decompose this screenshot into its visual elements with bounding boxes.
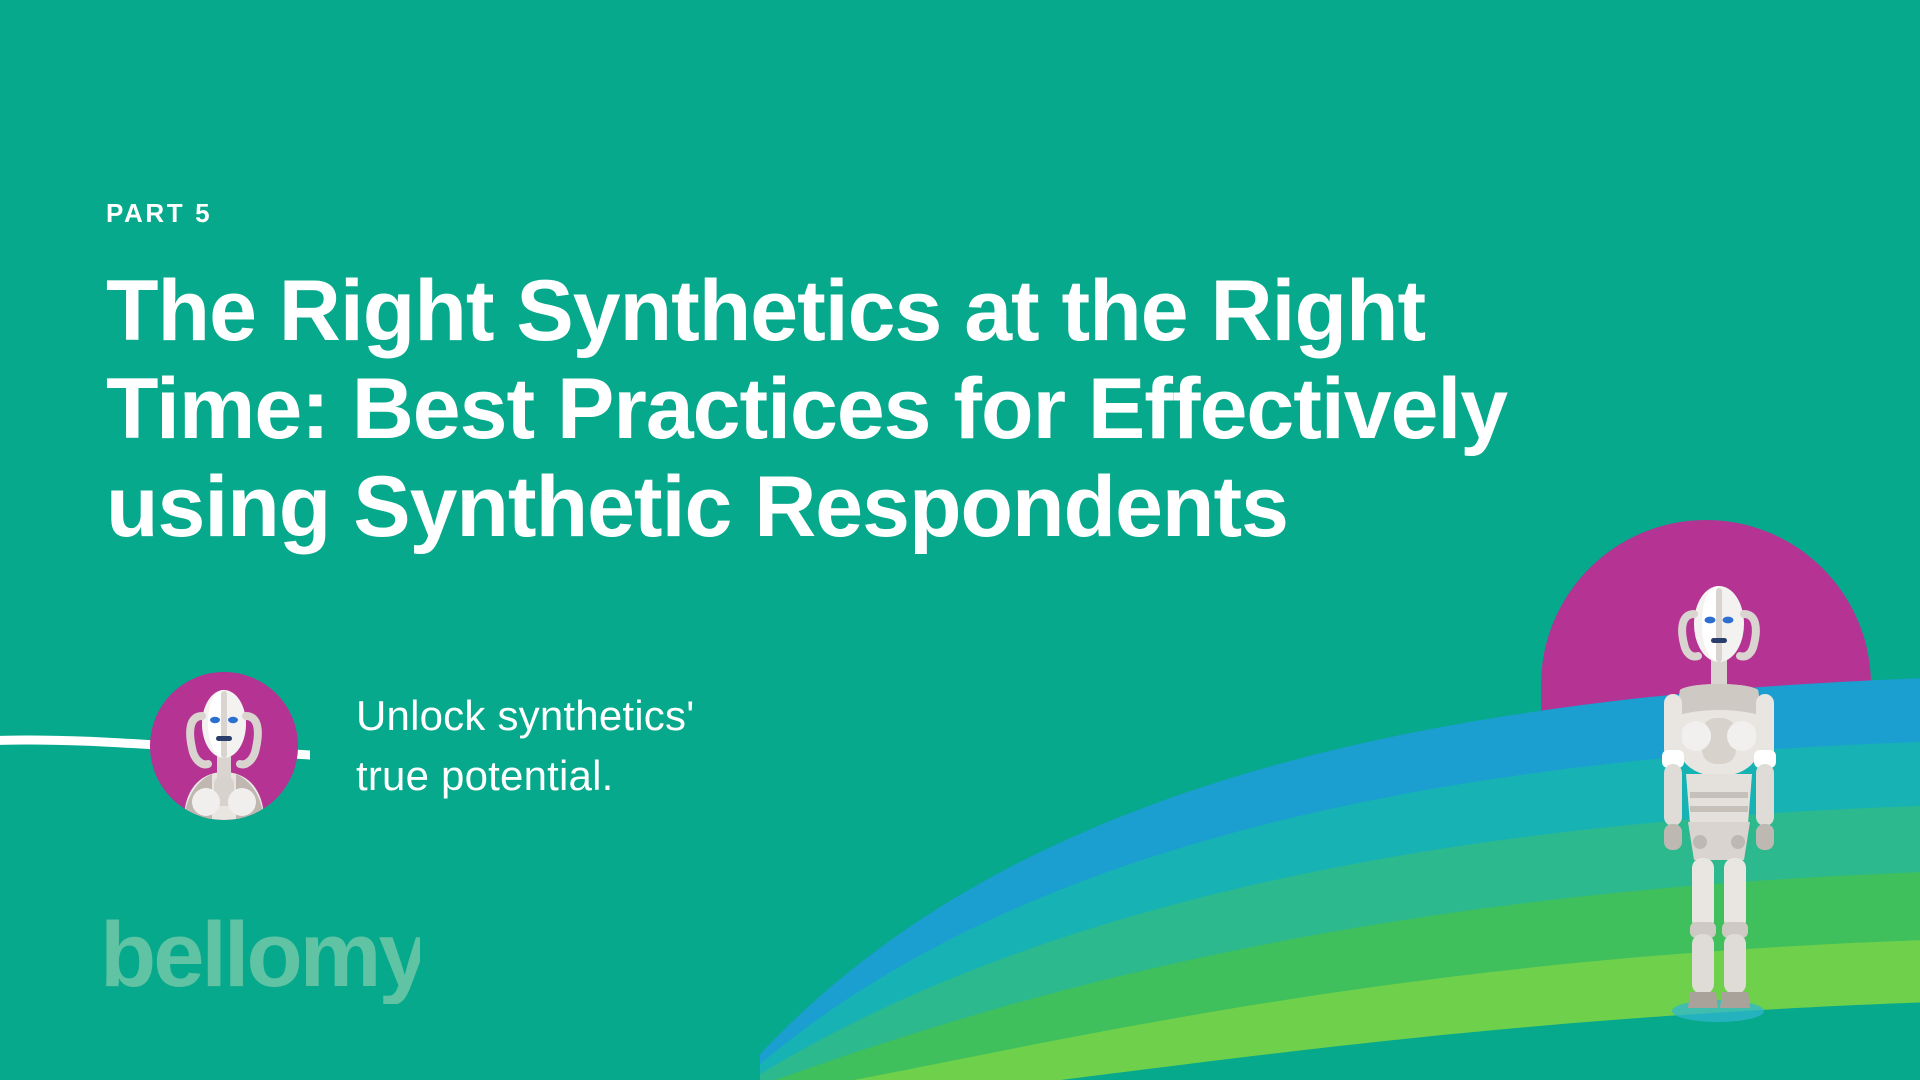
wave-bands-graphic (760, 640, 1920, 1080)
tagline-line-1: Unlock synthetics' (356, 686, 694, 746)
tagline-line-2: true potential. (356, 746, 694, 806)
tagline-text: Unlock synthetics' true potential. (356, 686, 694, 805)
poster-canvas: PART 5 The Right Synthetics at the Right… (0, 0, 1920, 1080)
tagline-row: Unlock synthetics' true potential. (150, 672, 694, 820)
headline-line-1: The Right Synthetics at the Right (106, 262, 1796, 360)
avatar (150, 672, 298, 820)
bellomy-logo-icon: bellomy (100, 912, 420, 1004)
part-label: PART 5 (106, 200, 1806, 226)
headline-line-3: using Synthetic Respondents (106, 458, 1796, 556)
robot-ground-shadow (1672, 1000, 1764, 1022)
headline-block: PART 5 The Right Synthetics at the Right… (106, 200, 1806, 556)
page-title: The Right Synthetics at the Right Time: … (106, 262, 1796, 556)
robot-head-avatar-icon (150, 672, 298, 820)
magenta-arch-backdrop (1541, 520, 1871, 940)
headline-line-2: Time: Best Practices for Effectively (106, 360, 1796, 458)
bellomy-logo-text: bellomy (100, 912, 420, 1004)
android-robot-illustration (1628, 578, 1810, 1020)
bellomy-logo: bellomy (100, 912, 420, 1004)
